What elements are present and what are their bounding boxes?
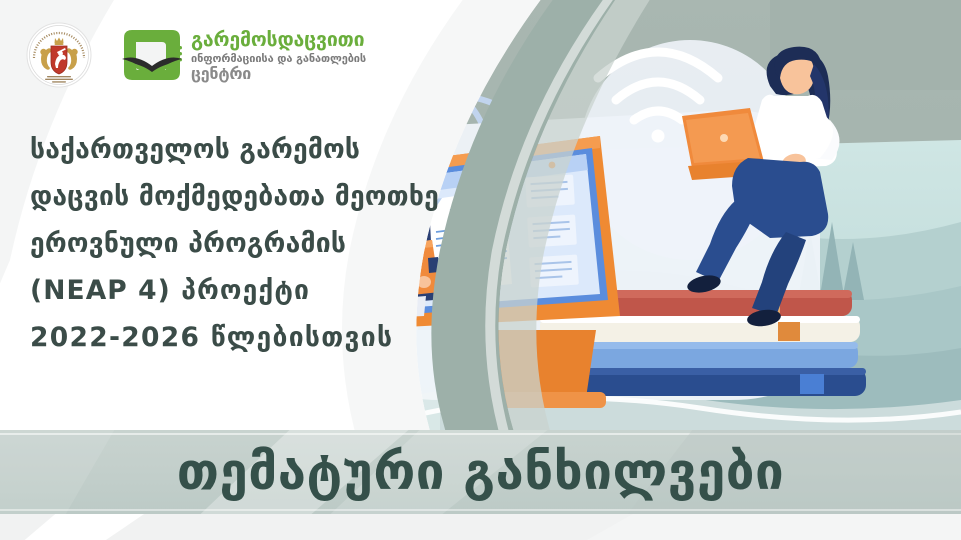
title-line-4: (NEAP 4) პროექტი <box>30 267 439 314</box>
logo-wordmark: გარემოსდაცვითი ინფორმაციისა და განათლები… <box>191 28 366 82</box>
georgia-government-seal <box>26 22 92 88</box>
logo-line-3: ცენტრი <box>191 66 366 82</box>
open-book-logo-icon <box>122 26 184 84</box>
title-line-1: საქართველოს გარემოს <box>30 126 439 173</box>
banner-title: თემატური განხილვები <box>0 430 961 514</box>
logo-line-1: გარემოსდაცვითი <box>191 30 366 50</box>
bottom-banner: თემატური განხილვები <box>0 430 961 514</box>
title-line-3: ეროვნული პროგრამის <box>30 220 439 267</box>
title-line-5: 2022-2026 წლებისთვის <box>30 314 439 361</box>
page-title: საქართველოს გარემოს დაცვის მოქმედებათა მ… <box>30 126 439 361</box>
logo-row: გარემოსდაცვითი ინფორმაციისა და განათლები… <box>26 22 366 88</box>
poster-canvas: გარემოსდაცვითი ინფორმაციისა და განათლები… <box>0 0 961 540</box>
environmental-information-education-centre-logo: გარემოსდაცვითი ინფორმაციისა და განათლები… <box>122 26 366 84</box>
logo-line-2: ინფორმაციისა და განათლების <box>191 53 366 64</box>
title-line-2: დაცვის მოქმედებათა მეოთხე <box>30 173 439 220</box>
footer-strip <box>0 514 961 540</box>
